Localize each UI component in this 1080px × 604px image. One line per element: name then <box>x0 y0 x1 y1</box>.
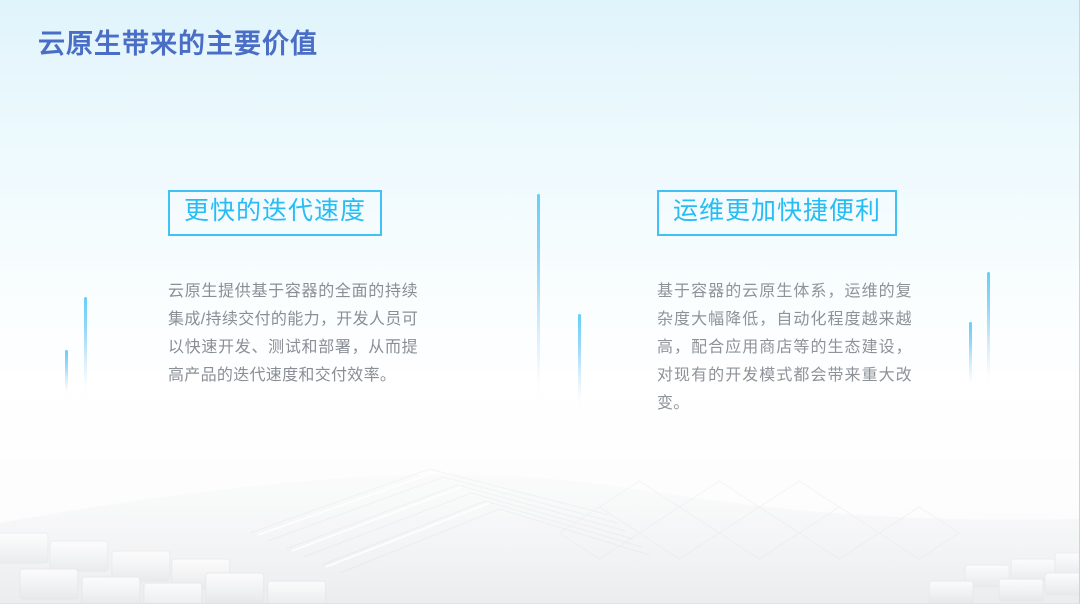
column-heading-box-right: 运维更加快捷便利 <box>657 190 897 236</box>
column-heading-box-left: 更快的迭代速度 <box>168 190 382 236</box>
slide-title: 云原生带来的主要价值 <box>38 22 318 61</box>
column-heading-left: 更快的迭代速度 <box>184 198 366 226</box>
column-body-right: 基于容器的云原生体系，运维的复杂度大幅降低，自动化程度越来越高，配合应用商店等的… <box>657 278 912 418</box>
decor-line-left-2 <box>65 350 68 397</box>
decor-line-left-1 <box>84 297 87 397</box>
decor-line-middle-2 <box>578 314 581 410</box>
value-column-right: 运维更加快捷便利 基于容器的云原生体系，运维的复杂度大幅降低，自动化程度越来越高… <box>657 190 912 418</box>
decor-line-right-2 <box>969 322 972 390</box>
column-heading-right: 运维更加快捷便利 <box>673 198 881 226</box>
decor-line-right-1 <box>987 272 990 390</box>
decor-line-middle-1 <box>537 194 540 410</box>
value-column-left: 更快的迭代速度 云原生提供基于容器的全面的持续集成/持续交付的能力，开发人员可以… <box>168 190 418 390</box>
column-body-left: 云原生提供基于容器的全面的持续集成/持续交付的能力，开发人员可以快速开发、测试和… <box>168 278 418 390</box>
presentation-slide: 云原生带来的主要价值 更快的迭代速度 云原生提供基于容器的全面的持续集成/持续交… <box>0 0 1080 604</box>
background-3d-landscape <box>0 373 1079 603</box>
